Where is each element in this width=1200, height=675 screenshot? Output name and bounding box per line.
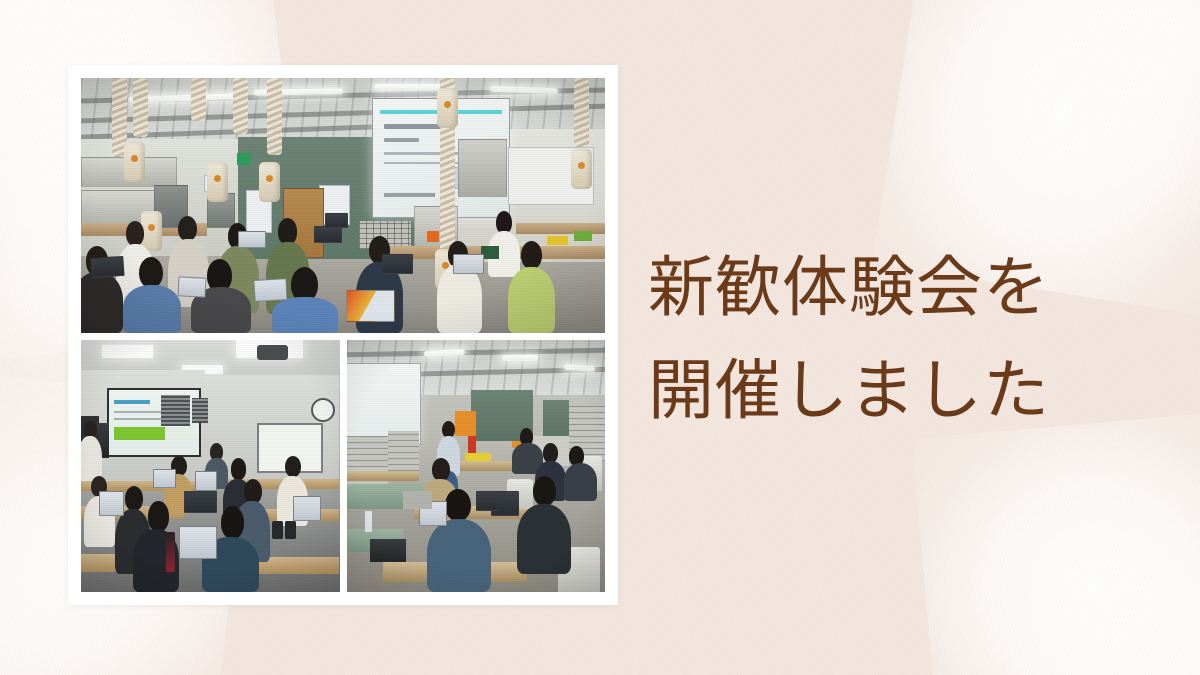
presenter-tablet (481, 246, 499, 259)
laptop (179, 526, 217, 558)
coiled-power-cord (133, 78, 148, 137)
student-body (564, 463, 598, 501)
watercolor-wash-bottom-right (912, 403, 1200, 675)
laptop (453, 254, 484, 274)
student-head (244, 479, 262, 504)
presenter-body (81, 436, 102, 481)
tool-case (465, 453, 491, 461)
laptop (195, 471, 218, 491)
cord-reel-housing (124, 142, 145, 182)
student-body (427, 519, 492, 592)
attendee-body (272, 297, 338, 333)
student-body (517, 504, 571, 575)
photo-workshop-presentation (81, 78, 605, 333)
laptop (153, 469, 176, 489)
parts-shelf (388, 431, 419, 471)
laptop (177, 276, 206, 297)
headline-line-1: 新歓体験会を (648, 236, 1148, 339)
laptop (382, 254, 413, 274)
laptop (99, 491, 124, 516)
wall-clock (311, 398, 335, 422)
photo-grid (81, 78, 605, 592)
coiled-power-cord (233, 78, 248, 134)
coiled-power-cord (191, 78, 206, 121)
work-bench (347, 471, 419, 481)
backpack (476, 491, 499, 511)
attendee-body (123, 285, 181, 333)
slide-image-block (165, 427, 192, 440)
student-head (148, 501, 169, 531)
attendee-head (126, 221, 145, 247)
paper-cup (272, 521, 282, 539)
photo-collage-frame (68, 65, 618, 605)
tool-case-icon (574, 231, 592, 241)
cord-reel-housing (207, 162, 228, 202)
attendee-head (521, 241, 542, 269)
student-head (445, 489, 471, 522)
attendee-body (81, 272, 123, 333)
tool-cart (455, 411, 476, 436)
attendee-body (508, 267, 555, 333)
laptop (293, 496, 321, 521)
laptop (238, 231, 266, 248)
slide-highlight-block (114, 427, 165, 440)
cord-reel-housing (571, 149, 592, 189)
ceiling-light-panel (102, 345, 154, 358)
exit-sign-icon (237, 153, 251, 164)
bag (403, 491, 431, 509)
laptop (184, 491, 217, 513)
laptop (314, 226, 342, 243)
shelf-rack (458, 139, 507, 197)
wall-green-panel (543, 400, 569, 435)
laptop (253, 279, 288, 303)
attendee-head (278, 218, 298, 245)
slide-title-line (384, 124, 441, 129)
wall-vent (161, 395, 189, 425)
ceiling-projector (257, 345, 288, 360)
wall-vent (192, 398, 208, 423)
slide-headline: 新歓体験会を 開催しました (648, 236, 1148, 442)
tool-case-icon (547, 236, 568, 245)
water-bottle (365, 511, 373, 531)
laptop-case (370, 539, 406, 562)
slide-title-line (114, 400, 150, 404)
photo-workshop-room (347, 340, 606, 592)
laptop (346, 290, 395, 323)
laptop (91, 255, 126, 277)
headline-line-2: 開催しました (648, 339, 1148, 442)
coiled-power-cord (574, 78, 589, 147)
attendee-head (139, 257, 163, 289)
student-head (432, 458, 450, 481)
student-head (221, 506, 244, 539)
slide-footer-line (384, 193, 436, 197)
water-bottle (166, 532, 175, 572)
ceiling-light (502, 355, 538, 361)
paper-cup (285, 521, 295, 539)
student-head (231, 458, 247, 479)
student-head (125, 486, 143, 511)
coiled-power-cord (267, 78, 282, 155)
laptop (325, 213, 348, 228)
cord-reel-housing (437, 88, 458, 128)
attendee-head (178, 216, 197, 242)
tool-box-icon (427, 231, 440, 242)
student-head (533, 476, 556, 506)
cord-reel-housing (259, 162, 280, 202)
attendee-body (437, 264, 482, 333)
slide-subtitle-line (384, 138, 419, 142)
student-head (285, 456, 301, 477)
photo-lecture-classroom (81, 340, 340, 592)
slide-canvas: 新歓体験会を 開催しました (0, 0, 1200, 675)
